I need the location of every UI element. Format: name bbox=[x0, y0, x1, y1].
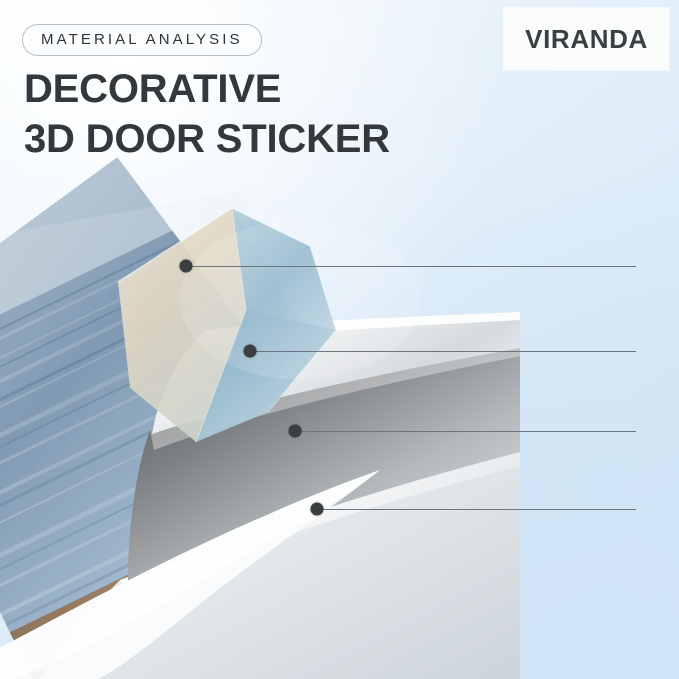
title-line-1: DECORATIVE bbox=[24, 67, 281, 111]
brand-name: VIRANDA bbox=[525, 24, 648, 55]
sticker-artwork bbox=[0, 150, 520, 679]
callout-leader-line-hd-pattern bbox=[250, 351, 636, 352]
eyebrow-badge: MATERIAL ANALYSIS bbox=[22, 24, 262, 56]
brand-logo-box: VIRANDA bbox=[504, 8, 669, 70]
callout-dot-bonding bbox=[289, 425, 302, 438]
callout-dot-backing bbox=[311, 503, 324, 516]
page-title: DECORATIVE 3D DOOR STICKER bbox=[24, 66, 390, 162]
title-line-2: 3D DOOR STICKER bbox=[24, 116, 390, 162]
callout-dot-waterproof bbox=[180, 260, 193, 273]
callout-leader-line-waterproof bbox=[186, 266, 636, 267]
callout-leader-line-bonding bbox=[295, 431, 636, 432]
callout-leader-line-backing bbox=[317, 509, 636, 510]
infographic-canvas: MATERIAL ANALYSIS DECORATIVE 3D DOOR STI… bbox=[0, 0, 679, 679]
callout-dot-hd-pattern bbox=[244, 345, 257, 358]
